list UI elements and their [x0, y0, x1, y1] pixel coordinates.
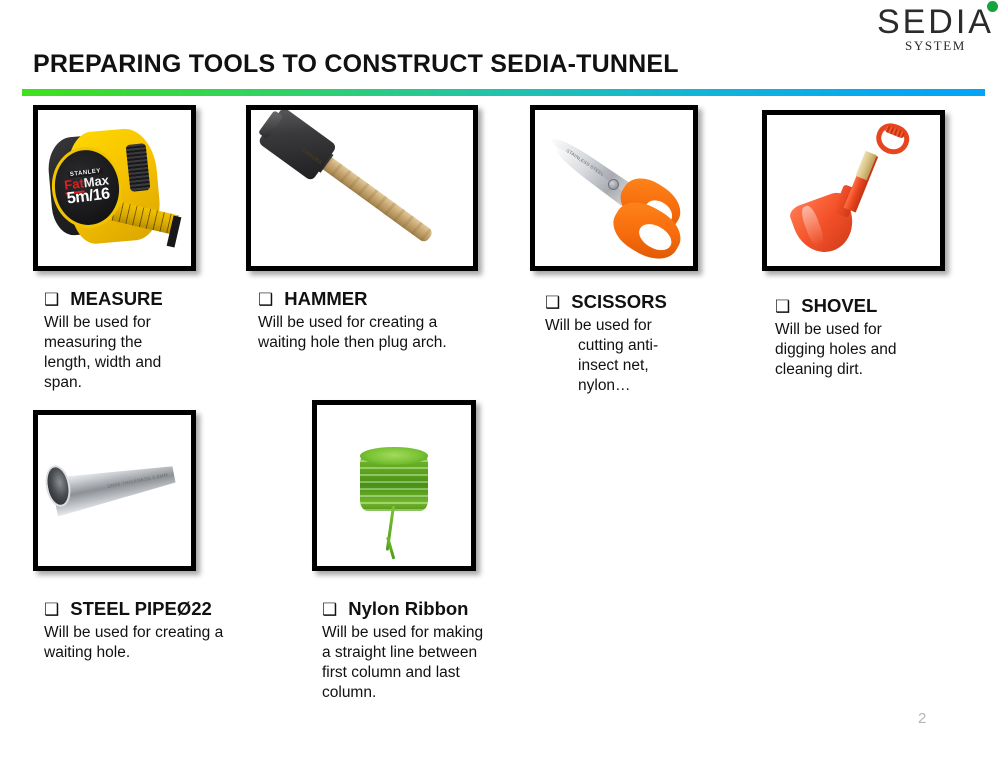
- scissors-image-frame: STAINLESS STEEL: [530, 105, 698, 271]
- checkbox-icon: ❑: [44, 600, 59, 619]
- hammer-description: Will be used for creating a waiting hole…: [258, 313, 493, 353]
- scissors-desc-line: Will be used for: [545, 316, 720, 336]
- hammer-image-frame: ENDURA: [246, 105, 478, 271]
- nylon-ribbon-desc-line: first column and last: [322, 663, 552, 683]
- shovel-desc-line: cleaning dirt.: [775, 360, 955, 380]
- sedia-logo: SEDIA SYSTEM: [877, 4, 994, 54]
- slide: SEDIA SYSTEM PREPARING TOOLS TO CONSTRUC…: [0, 0, 1008, 757]
- logo-wordmark: SEDIA: [877, 4, 994, 40]
- measure-image-frame: STANLEY FatMax 5m/16: [33, 105, 196, 271]
- page-title: PREPARING TOOLS TO CONSTRUCT SEDIA-TUNNE…: [33, 50, 679, 79]
- hammer-caption: ❑HAMMER Will be used for creating a wait…: [258, 288, 493, 353]
- steel-pipe-caption: ❑STEEL PIPEØ22 Will be used for creating…: [44, 598, 284, 663]
- tape-measure-icon: STANLEY FatMax 5m/16: [38, 110, 191, 266]
- nylon-ribbon-heading: ❑Nylon Ribbon: [322, 598, 552, 621]
- shovel-heading: ❑SHOVEL: [775, 295, 955, 318]
- measure-desc-line: length, width and: [44, 353, 249, 373]
- measure-heading: ❑MEASURE: [44, 288, 249, 311]
- logo-word-text: SEDIA: [877, 3, 994, 41]
- checkbox-icon: ❑: [545, 293, 560, 312]
- scissors-icon: STAINLESS STEEL: [535, 110, 693, 266]
- nylon-ribbon-title: Nylon Ribbon: [348, 598, 468, 619]
- checkbox-icon: ❑: [44, 290, 59, 309]
- hammer-desc-line: waiting hole then plug arch.: [258, 333, 493, 353]
- scissors-title: SCISSORS: [571, 291, 667, 312]
- shovel-desc-line: Will be used for: [775, 320, 955, 340]
- measure-desc-line: span.: [44, 373, 249, 393]
- scissors-desc-line: insect net,: [545, 356, 720, 376]
- nylon-ribbon-description: Will be used for making a straight line …: [322, 623, 552, 703]
- nylon-ribbon-caption: ❑Nylon Ribbon Will be used for making a …: [322, 598, 552, 703]
- hammer-desc-line: Will be used for creating a: [258, 313, 493, 333]
- scissors-description: Will be used for cutting anti- insect ne…: [545, 316, 720, 396]
- steel-pipe-description: Will be used for creating a waiting hole…: [44, 623, 284, 663]
- steel-pipe-heading: ❑STEEL PIPEØ22: [44, 598, 284, 621]
- shovel-image-frame: [762, 110, 945, 271]
- measure-title: MEASURE: [70, 288, 163, 309]
- shovel-desc-line: digging holes and: [775, 340, 955, 360]
- checkbox-icon: ❑: [322, 600, 337, 619]
- steel-pipe-desc-line: waiting hole.: [44, 643, 284, 663]
- steel-pipe-desc-line: Will be used for creating a: [44, 623, 284, 643]
- checkbox-icon: ❑: [258, 290, 273, 309]
- nylon-ribbon-image-frame: [312, 400, 476, 571]
- tape-size-label: 5m/16: [66, 187, 111, 208]
- nylon-ribbon-desc-line: a straight line between: [322, 643, 552, 663]
- steel-pipe-image-frame: DN50 THICKNESS 2.0MM: [33, 410, 196, 571]
- hammer-heading: ❑HAMMER: [258, 288, 493, 311]
- nylon-ribbon-desc-line: column.: [322, 683, 552, 703]
- steel-pipe-title: STEEL PIPEØ22: [70, 598, 212, 619]
- shovel-description: Will be used for digging holes and clean…: [775, 320, 955, 380]
- nylon-ribbon-icon: [317, 405, 471, 566]
- shovel-title: SHOVEL: [801, 295, 877, 316]
- steel-pipe-icon: DN50 THICKNESS 2.0MM: [38, 415, 191, 566]
- title-gradient-rule: [22, 89, 985, 96]
- logo-green-dot-icon: [987, 1, 998, 12]
- shovel-icon: [767, 115, 940, 266]
- measure-caption: ❑MEASURE Will be used for measuring the …: [44, 288, 249, 393]
- shovel-caption: ❑SHOVEL Will be used for digging holes a…: [775, 295, 955, 380]
- scissors-caption: ❑SCISSORS Will be used for cutting anti-…: [545, 291, 720, 396]
- page-number: 2: [918, 710, 926, 727]
- scissors-heading: ❑SCISSORS: [545, 291, 720, 314]
- checkbox-icon: ❑: [775, 297, 790, 316]
- measure-desc-line: measuring the: [44, 333, 249, 353]
- hammer-title: HAMMER: [284, 288, 367, 309]
- nylon-ribbon-desc-line: Will be used for making: [322, 623, 552, 643]
- measure-desc-line: Will be used for: [44, 313, 249, 333]
- scissors-desc-line: nylon…: [545, 376, 720, 396]
- measure-description: Will be used for measuring the length, w…: [44, 313, 249, 393]
- scissors-desc-line: cutting anti-: [545, 336, 720, 356]
- hammer-icon: ENDURA: [251, 110, 473, 266]
